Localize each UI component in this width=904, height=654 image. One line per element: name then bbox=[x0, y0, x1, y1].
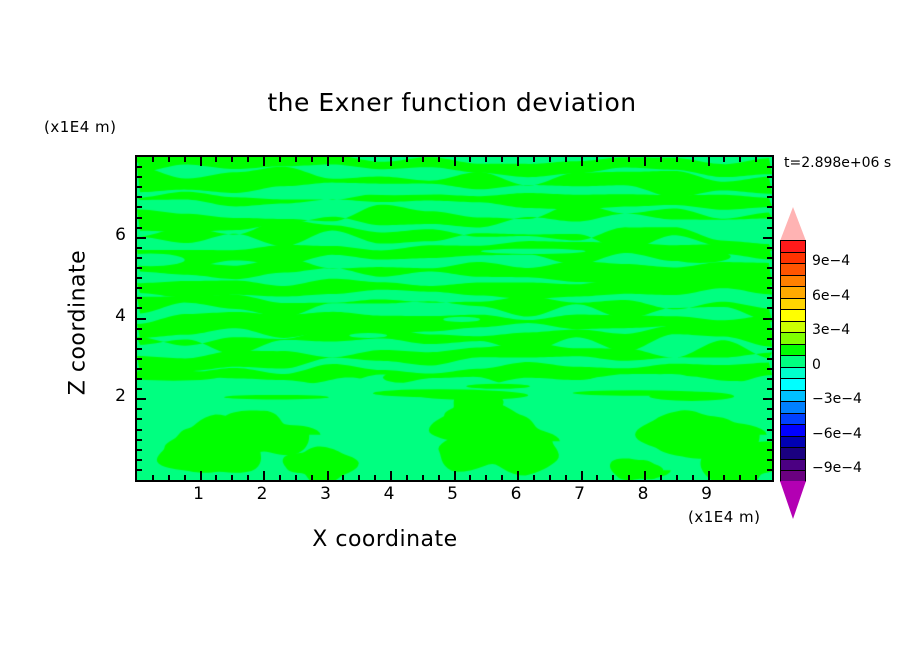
y-axis-title: Z coordinate bbox=[66, 223, 91, 423]
x-axis-tick-top bbox=[311, 157, 313, 162]
colorbar-band bbox=[781, 264, 805, 276]
y-axis-tick-right bbox=[767, 368, 772, 370]
x-axis-tick bbox=[231, 475, 233, 480]
y-axis-tick bbox=[137, 348, 142, 350]
x-axis-tick bbox=[358, 475, 360, 480]
y-axis-tick-right bbox=[767, 176, 772, 178]
colorbar bbox=[780, 207, 806, 519]
x-axis-tick-top bbox=[247, 157, 249, 162]
y-axis-tick-right bbox=[767, 338, 772, 340]
y-axis-tick-right bbox=[767, 277, 772, 279]
y-axis-tick bbox=[137, 459, 142, 461]
x-axis-tick-top bbox=[533, 157, 535, 162]
x-axis-tick bbox=[501, 475, 503, 480]
y-axis-tick bbox=[137, 338, 142, 340]
x-axis-tick bbox=[327, 471, 329, 480]
colorbar-tick-label: −6e−4 bbox=[812, 426, 862, 442]
y-axis-tick bbox=[137, 176, 142, 178]
y-axis-tick-right bbox=[767, 267, 772, 269]
y-axis-tick-right bbox=[767, 227, 772, 229]
colorbar-band bbox=[781, 425, 805, 437]
y-axis-tick bbox=[137, 297, 142, 299]
y-axis-tick-right bbox=[767, 459, 772, 461]
x-axis-tick-top bbox=[739, 157, 741, 162]
x-axis-tick bbox=[374, 475, 376, 480]
x-axis-tick-top bbox=[422, 157, 424, 162]
y-axis-tick-right bbox=[767, 328, 772, 330]
y-axis-tick-right bbox=[767, 388, 772, 390]
y-axis-tick bbox=[137, 439, 142, 441]
x-axis-tick bbox=[692, 475, 694, 480]
y-axis-tick bbox=[137, 206, 142, 208]
x-axis-tick bbox=[200, 471, 202, 480]
x-axis-tick-top bbox=[612, 157, 614, 162]
colorbar-band bbox=[781, 368, 805, 380]
x-axis-tick bbox=[469, 475, 471, 480]
x-axis-tick-top bbox=[374, 157, 376, 162]
colorbar-band bbox=[781, 414, 805, 426]
x-axis-tick-top bbox=[231, 157, 233, 162]
x-axis-tick-top bbox=[628, 157, 630, 162]
colorbar-band bbox=[781, 333, 805, 345]
x-axis-tick-top bbox=[327, 157, 329, 166]
time-annotation: t=2.898e+06 s bbox=[784, 155, 891, 171]
x-axis-tick-top bbox=[501, 157, 503, 162]
x-axis-tick-top bbox=[152, 157, 154, 162]
x-axis-tick-top bbox=[215, 157, 217, 162]
x-axis-tick bbox=[581, 471, 583, 480]
y-axis-tick-right bbox=[763, 398, 772, 400]
x-tick-label: 4 bbox=[369, 484, 409, 504]
y-axis-tick-right bbox=[767, 247, 772, 249]
y-axis-tick-right bbox=[763, 318, 772, 320]
x-axis-tick bbox=[485, 475, 487, 480]
x-axis-tick-top bbox=[660, 157, 662, 162]
colorbar-band bbox=[781, 448, 805, 460]
y-axis-tick bbox=[137, 186, 142, 188]
x-axis-tick bbox=[549, 475, 551, 480]
x-axis-tick bbox=[533, 475, 535, 480]
colorbar-band bbox=[781, 299, 805, 311]
x-axis-tick-top bbox=[168, 157, 170, 162]
x-axis-tick bbox=[644, 471, 646, 480]
y-axis-tick-right bbox=[767, 206, 772, 208]
x-axis-tick-top bbox=[342, 157, 344, 162]
colorbar-under-arrow-icon bbox=[780, 481, 806, 519]
x-axis-tick bbox=[755, 475, 757, 480]
y-axis-tick-right bbox=[767, 257, 772, 259]
x-axis-tick-top bbox=[358, 157, 360, 162]
y-tick-label: 4 bbox=[86, 306, 126, 326]
x-axis-tick bbox=[263, 471, 265, 480]
y-axis-tick bbox=[137, 469, 142, 471]
x-axis-tick bbox=[342, 475, 344, 480]
colorbar-band bbox=[781, 287, 805, 299]
x-axis-tick bbox=[596, 475, 598, 480]
colorbar-tick-label: 9e−4 bbox=[812, 253, 850, 269]
y-axis-tick-right bbox=[767, 358, 772, 360]
x-axis-tick-top bbox=[596, 157, 598, 162]
y-axis-tick bbox=[137, 408, 142, 410]
y-axis-tick bbox=[137, 257, 142, 259]
x-axis-tick bbox=[422, 475, 424, 480]
colorbar-band bbox=[781, 437, 805, 449]
x-axis-tick bbox=[279, 475, 281, 480]
x-axis-tick-top bbox=[200, 157, 202, 166]
x-axis-tick bbox=[628, 475, 630, 480]
x-axis-tick-top bbox=[723, 157, 725, 162]
y-axis-tick bbox=[137, 418, 142, 420]
x-tick-label: 1 bbox=[179, 484, 219, 504]
y-axis-tick-right bbox=[767, 408, 772, 410]
x-axis-tick bbox=[215, 475, 217, 480]
x-axis-tick-top bbox=[549, 157, 551, 162]
page-title: the Exner function deviation bbox=[0, 88, 904, 117]
x-axis-tick bbox=[152, 475, 154, 480]
y-axis-tick bbox=[137, 196, 142, 198]
x-axis-tick-top bbox=[390, 157, 392, 166]
x-axis-tick bbox=[612, 475, 614, 480]
y-axis-tick bbox=[137, 378, 142, 380]
x-axis-tick-top bbox=[755, 157, 757, 162]
y-axis-tick-right bbox=[767, 297, 772, 299]
y-axis-tick bbox=[137, 318, 146, 320]
x-axis-tick bbox=[739, 475, 741, 480]
colorbar-band bbox=[781, 241, 805, 253]
y-axis-tick bbox=[137, 449, 142, 451]
colorbar-tick-label: 3e−4 bbox=[812, 322, 850, 338]
contour-plot-area bbox=[135, 155, 774, 482]
x-axis-tick bbox=[517, 471, 519, 480]
y-axis-tick bbox=[137, 237, 146, 239]
colorbar-tick-label: 6e−4 bbox=[812, 288, 850, 304]
x-axis-tick-top bbox=[454, 157, 456, 166]
y-axis-tick-right bbox=[767, 378, 772, 380]
y-axis-tick bbox=[137, 398, 146, 400]
y-axis-tick bbox=[137, 388, 142, 390]
x-axis-tick-top bbox=[263, 157, 265, 166]
y-tick-label: 2 bbox=[86, 386, 126, 406]
colorbar-tick-label: −9e−4 bbox=[812, 460, 862, 476]
colorbar-band bbox=[781, 276, 805, 288]
x-axis-tick-top bbox=[581, 157, 583, 166]
x-axis-tick bbox=[311, 475, 313, 480]
x-axis-tick-top bbox=[406, 157, 408, 162]
x-axis-tick bbox=[565, 475, 567, 480]
x-axis-tick bbox=[406, 475, 408, 480]
colorbar-band bbox=[781, 402, 805, 414]
colorbar-band bbox=[781, 310, 805, 322]
x-axis-tick bbox=[168, 475, 170, 480]
x-axis-tick-top bbox=[295, 157, 297, 162]
x-tick-label: 6 bbox=[496, 484, 536, 504]
x-axis-tick bbox=[438, 475, 440, 480]
x-axis-tick bbox=[660, 475, 662, 480]
y-axis-tick bbox=[137, 328, 142, 330]
x-axis-tick-top bbox=[485, 157, 487, 162]
x-tick-label: 2 bbox=[242, 484, 282, 504]
colorbar-over-arrow-icon bbox=[780, 207, 806, 241]
x-axis-tick-top bbox=[438, 157, 440, 162]
y-axis-tick bbox=[137, 166, 142, 168]
x-axis-tick-top bbox=[469, 157, 471, 162]
colorbar-tick-label: 0 bbox=[812, 357, 821, 373]
x-axis-tick bbox=[247, 475, 249, 480]
x-axis-tick-top bbox=[708, 157, 710, 166]
y-axis-tick-right bbox=[767, 439, 772, 441]
y-axis-tick bbox=[137, 227, 142, 229]
colorbar-band bbox=[781, 356, 805, 368]
contour-field-canvas bbox=[137, 157, 772, 480]
y-axis-tick-right bbox=[767, 449, 772, 451]
x-axis-tick bbox=[708, 471, 710, 480]
colorbar-band bbox=[781, 345, 805, 357]
colorbar-band bbox=[781, 322, 805, 334]
x-axis-tick-top bbox=[517, 157, 519, 166]
y-axis-tick bbox=[137, 267, 142, 269]
x-tick-label: 7 bbox=[560, 484, 600, 504]
y-axis-unit-label: (x1E4 m) bbox=[44, 118, 117, 136]
x-tick-label: 8 bbox=[623, 484, 663, 504]
y-axis-tick-right bbox=[767, 307, 772, 309]
y-axis-tick-right bbox=[767, 186, 772, 188]
y-axis-tick-right bbox=[767, 418, 772, 420]
x-tick-label: 3 bbox=[306, 484, 346, 504]
x-axis-tick-top bbox=[565, 157, 567, 162]
y-axis-tick-right bbox=[763, 237, 772, 239]
y-axis-tick bbox=[137, 217, 142, 219]
colorbar-band bbox=[781, 253, 805, 265]
colorbar-bands bbox=[780, 240, 806, 482]
y-axis-tick-right bbox=[767, 217, 772, 219]
colorbar-band bbox=[781, 460, 805, 472]
x-axis-tick bbox=[723, 475, 725, 480]
y-axis-tick bbox=[137, 368, 142, 370]
y-axis-tick bbox=[137, 247, 142, 249]
x-axis-tick-top bbox=[279, 157, 281, 162]
x-axis-tick bbox=[454, 471, 456, 480]
y-axis-tick-right bbox=[767, 287, 772, 289]
x-axis-tick-top bbox=[184, 157, 186, 162]
y-axis-tick-right bbox=[767, 348, 772, 350]
x-axis-title: X coordinate bbox=[0, 527, 770, 552]
y-axis-tick bbox=[137, 307, 142, 309]
x-axis-tick bbox=[295, 475, 297, 480]
y-axis-tick-right bbox=[767, 469, 772, 471]
y-tick-label: 6 bbox=[86, 225, 126, 245]
y-axis-tick-right bbox=[767, 166, 772, 168]
colorbar-band bbox=[781, 379, 805, 391]
x-axis-unit-label: (x1E4 m) bbox=[688, 508, 761, 526]
y-axis-tick-right bbox=[767, 196, 772, 198]
x-axis-tick-top bbox=[692, 157, 694, 162]
y-axis-tick bbox=[137, 358, 142, 360]
y-axis-tick bbox=[137, 277, 142, 279]
x-axis-tick-top bbox=[676, 157, 678, 162]
x-tick-label: 5 bbox=[433, 484, 473, 504]
x-axis-tick bbox=[390, 471, 392, 480]
y-axis-tick bbox=[137, 429, 142, 431]
y-axis-tick-right bbox=[767, 429, 772, 431]
x-axis-tick bbox=[676, 475, 678, 480]
colorbar-tick-label: −3e−4 bbox=[812, 391, 862, 407]
x-axis-tick bbox=[184, 475, 186, 480]
y-axis-tick bbox=[137, 287, 142, 289]
colorbar-band bbox=[781, 391, 805, 403]
x-tick-label: 9 bbox=[687, 484, 727, 504]
x-axis-tick-top bbox=[644, 157, 646, 166]
